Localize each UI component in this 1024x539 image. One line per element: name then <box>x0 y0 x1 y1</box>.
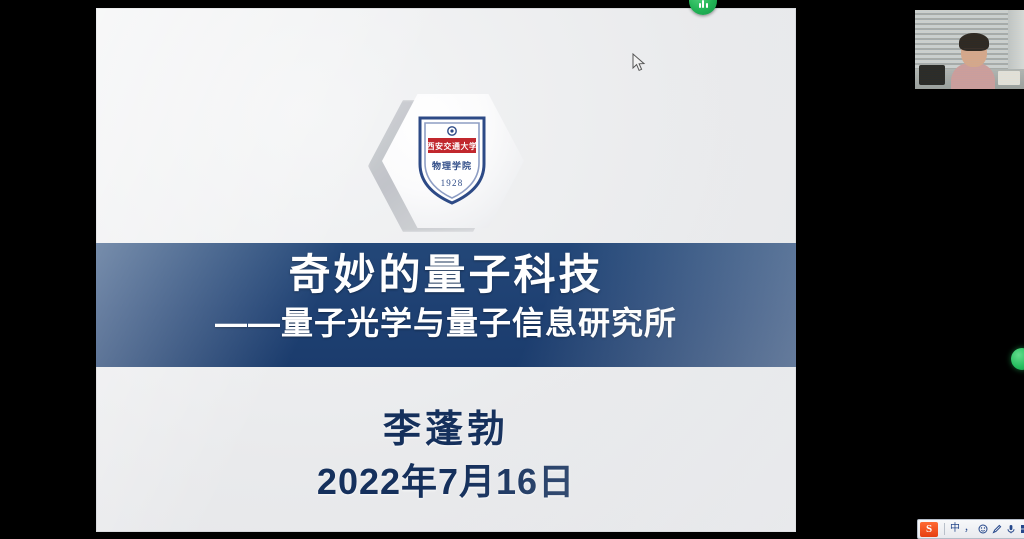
svg-text:1928: 1928 <box>441 178 464 188</box>
meeting-stage: 西安交通大学 物理学院 1928 奇妙的量子科技 ——量子光学与量子信息研究所 … <box>0 0 1024 537</box>
handwriting-input[interactable] <box>990 522 1004 537</box>
slide-title-band: 奇妙的量子科技 ——量子光学与量子信息研究所 <box>96 243 796 367</box>
punctuation-mode-toggle[interactable]: ， <box>962 522 976 537</box>
speaker-video-thumbnail[interactable] <box>897 0 1024 98</box>
letterbox-left <box>0 0 96 537</box>
sogou-ime-logo-icon[interactable]: S <box>920 522 938 537</box>
language-mode-toggle[interactable]: 中 <box>948 522 962 537</box>
slide-title-main: 奇妙的量子科技 <box>96 253 796 297</box>
emoji-picker[interactable] <box>976 522 990 537</box>
slide-title-subtitle: ——量子光学与量子信息研究所 <box>96 306 796 341</box>
webcam-video-frame <box>915 10 1024 89</box>
svg-text:西安交通大学: 西安交通大学 <box>427 141 478 151</box>
ime-divider <box>944 523 945 535</box>
ime-toolbox[interactable] <box>1018 522 1024 537</box>
slide-presenter-date: 2022年7月16日 <box>96 453 796 505</box>
ime-toolbar[interactable]: S 中 ， <box>917 519 1024 539</box>
papers-object <box>998 71 1020 85</box>
monitor-object <box>919 65 945 85</box>
svg-text:物理学院: 物理学院 <box>432 160 472 171</box>
xjtu-physics-school-emblem: 西安交通大学 物理学院 1928 <box>364 92 530 240</box>
voice-input[interactable] <box>1004 522 1018 537</box>
emblem-shield-icon: 西安交通大学 物理学院 1928 <box>416 114 488 206</box>
person-glasses <box>963 48 985 55</box>
signal-bars-icon <box>699 0 708 15</box>
slide-presenter-name: 李蓬勃 <box>96 398 796 453</box>
shared-presentation-slide[interactable]: 西安交通大学 物理学院 1928 奇妙的量子科技 ——量子光学与量子信息研究所 … <box>96 8 796 532</box>
